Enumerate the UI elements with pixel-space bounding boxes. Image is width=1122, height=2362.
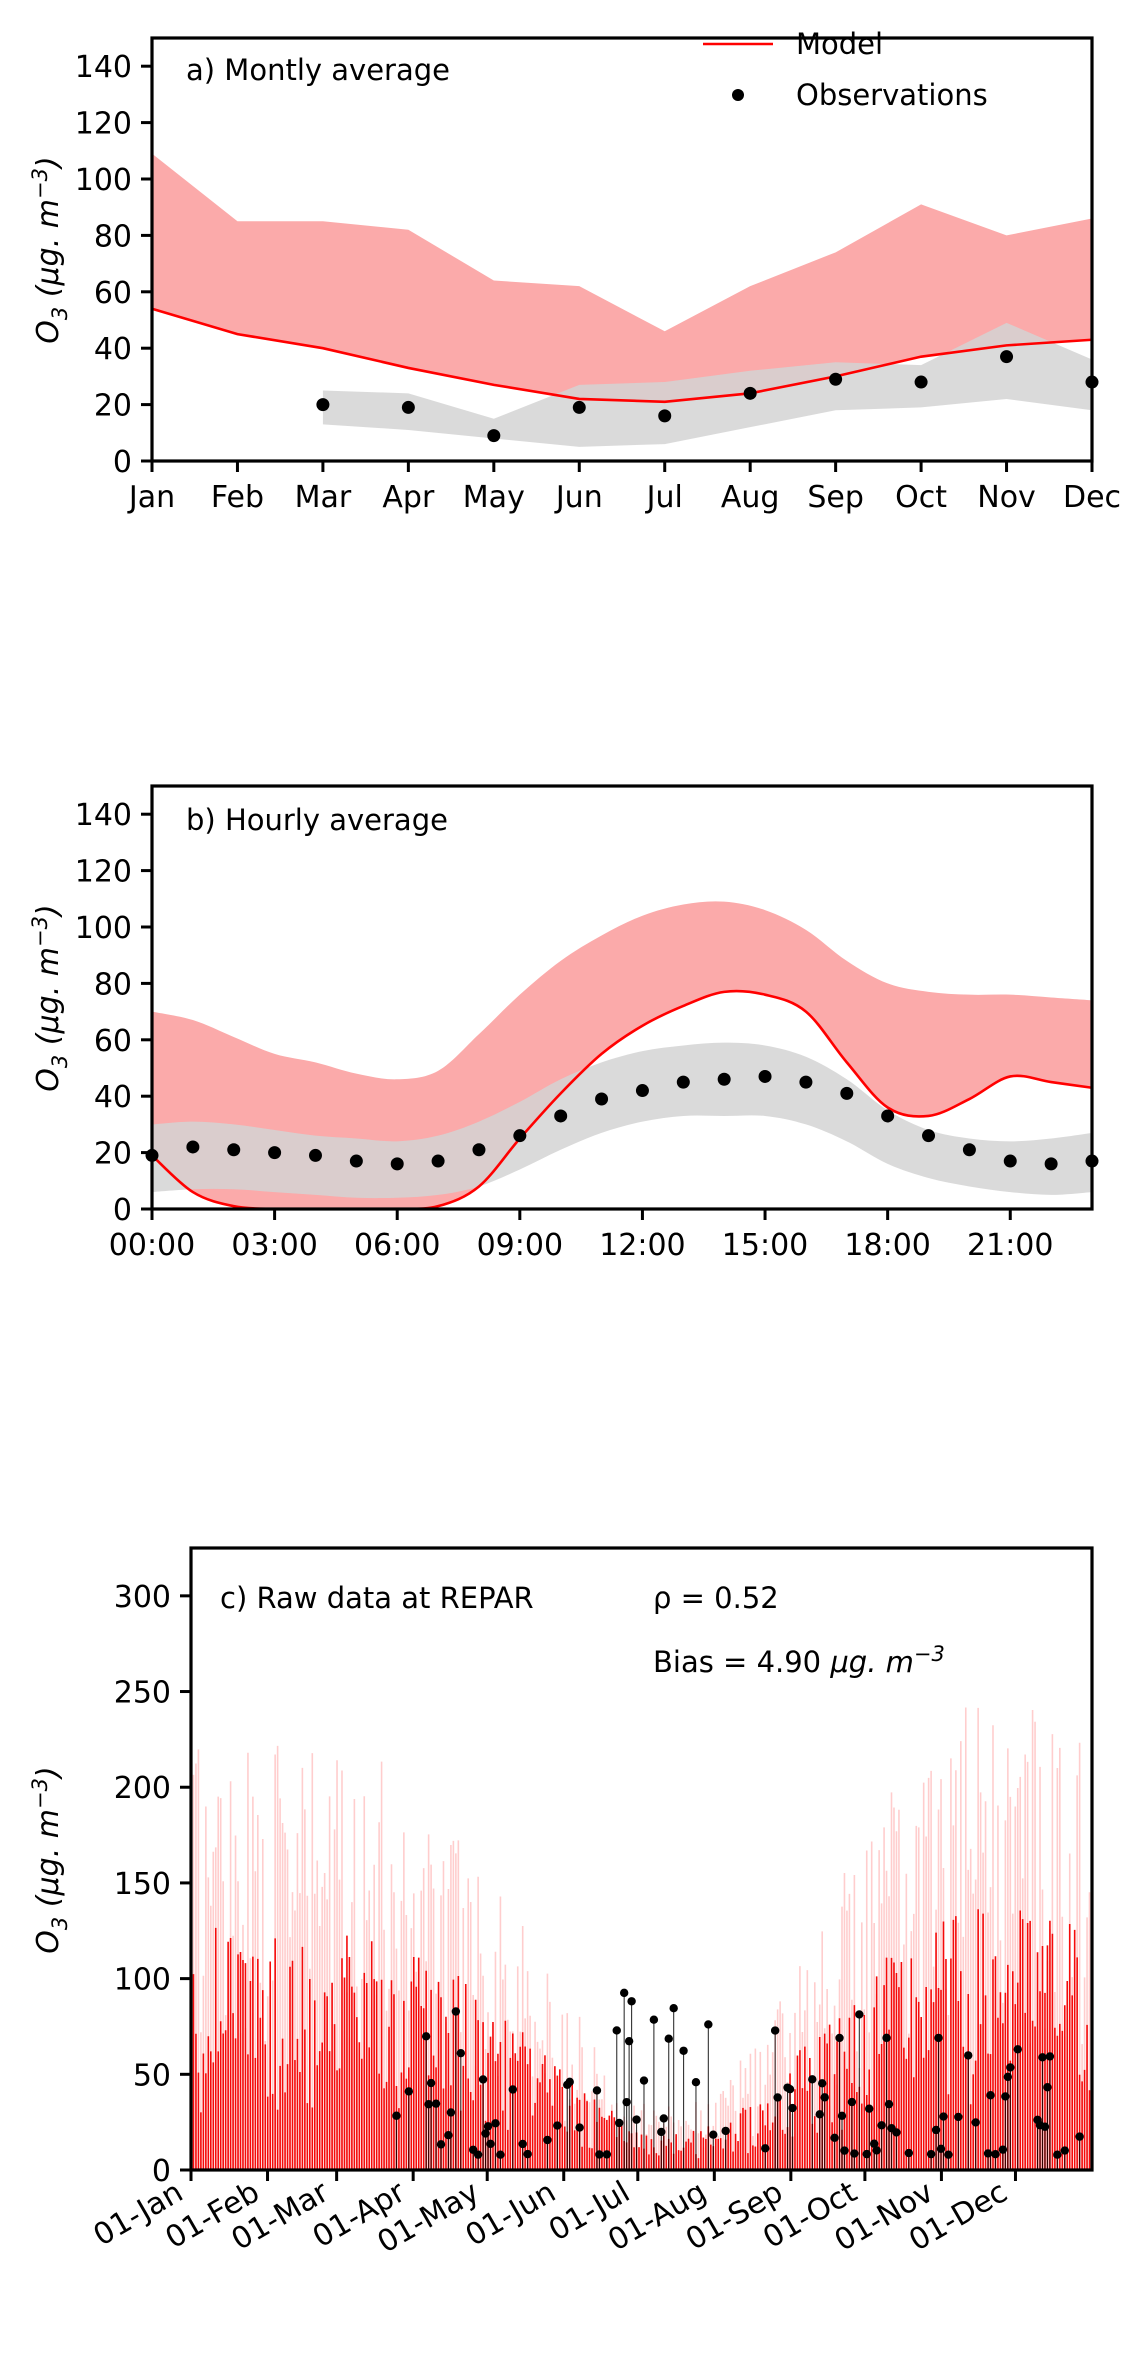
panel-c-observation-point [603, 2150, 611, 2158]
panel-b-observation-point [186, 1140, 199, 1153]
panel-c-observation-point [491, 2119, 499, 2127]
panel-b-y-tick-label: 40 [94, 1080, 132, 1115]
panel-c-observation-point [486, 2140, 494, 2148]
panel-c-title: c) Raw data at REPAR [220, 1581, 534, 1615]
panel-b-x-tick-label: 00:00 [109, 1228, 195, 1263]
panel-c-observation-point [593, 2086, 601, 2094]
legend-label-model: Model [796, 27, 883, 61]
panel-b-observation-point [350, 1155, 363, 1168]
panel-a-y-tick-label: 40 [94, 332, 132, 367]
panel-c-observation-point [575, 2123, 583, 2131]
panel-c-observation-point [835, 2034, 843, 2042]
figure-container: 020406080100120140 JanFebMarAprMayJunJul… [0, 0, 1122, 2362]
panel-b-observation-point [309, 1149, 322, 1162]
panel-c-observation-point [820, 2093, 828, 2101]
panel-c-observation-point [788, 2104, 796, 2112]
panel-c-observation-point [422, 2032, 430, 2040]
panel-c-observation-point [991, 2150, 999, 2158]
panel-c-observation-point [405, 2087, 413, 2095]
legend-observations-marker-swatch [732, 89, 744, 101]
panel-c-observation-point [840, 2146, 848, 2154]
panel-a-x-tick-label: May [463, 480, 525, 515]
panel-a-observation-point [402, 401, 415, 414]
panel-c-y-tick-label: 100 [114, 1963, 171, 1998]
panel-c-observation-point [543, 2136, 551, 2144]
panel-c-observation-point [954, 2113, 962, 2121]
panel-c-observation-point [1046, 2052, 1054, 2060]
panel-a-x-tick-label: Feb [211, 480, 264, 515]
panel-c-y-tick-label: 50 [133, 2058, 171, 2093]
panel-b-observation-point [432, 1155, 445, 1168]
panel-a-observation-point [658, 409, 671, 422]
panel-c-y-tick-label: 250 [114, 1676, 171, 1711]
panel-c-observation-point [944, 2150, 952, 2158]
panel-c-y-tick-label: 300 [114, 1580, 171, 1615]
panel-c-observation-point [721, 2127, 729, 2135]
panel-c-observation-point [971, 2118, 979, 2126]
panel-c-observation-point [679, 2047, 687, 2055]
panel-c-observation-point [934, 2034, 942, 2042]
panel-c-observation-point [761, 2144, 769, 2152]
panel-b-observation-point [922, 1129, 935, 1142]
panel-a-observation-point [829, 373, 842, 386]
panel-c-observation-point [427, 2079, 435, 2087]
panel-c-observation-point [1014, 2045, 1022, 2053]
panel-c-observation-point [986, 2091, 994, 2099]
panel-a-x-tick-label: Sep [807, 480, 864, 515]
panel-c-observation-point [818, 2079, 826, 2087]
panel-a-y-tick-label: 140 [75, 50, 132, 85]
panel-c-observation-point [773, 2093, 781, 2101]
panel-c-observation-point [566, 2078, 574, 2086]
panel-a-y-tick-label: 120 [75, 107, 132, 142]
panel-c-observation-point [518, 2140, 526, 2148]
panel-c-observation-point [627, 1997, 635, 2005]
panel-c-observation-point [669, 2004, 677, 2012]
panel-b-observation-point [513, 1129, 526, 1142]
panel-a-y-tick-label: 0 [113, 445, 132, 480]
panel-c-observation-point [808, 2075, 816, 2083]
panel-b-x-tick-label: 09:00 [477, 1228, 563, 1263]
panel-b-y-tick-label: 60 [94, 1024, 132, 1059]
panel-c-observation-point [509, 2085, 517, 2093]
panel-a-x-tick-label: Dec [1063, 480, 1121, 515]
panel-b-observation-point [554, 1109, 567, 1122]
panel-b-x-tick-label: 03:00 [231, 1228, 317, 1263]
panel-b-observation-point [718, 1073, 731, 1086]
panel-c-observation-point [474, 2150, 482, 2158]
panel-b-x-tick-label: 15:00 [722, 1228, 808, 1263]
panel-c-observation-point [848, 2098, 856, 2106]
panel-c-observation-point [771, 2026, 779, 2034]
panel-c-observation-point [665, 2035, 673, 2043]
panel-a-observation-point [915, 376, 928, 389]
panel-b-x-tick-label: 06:00 [354, 1228, 440, 1263]
panel-b-y-tick-label: 140 [75, 798, 132, 833]
panel-c-observation-point [640, 2076, 648, 2084]
panel-b-observation-point [759, 1070, 772, 1083]
panel-c-observation-point [1061, 2146, 1069, 2154]
panel-b-y-tick-label: 120 [75, 855, 132, 890]
panel-b-observation-point [391, 1157, 404, 1170]
panel-b-observation-point [963, 1143, 976, 1156]
panel-c-observation-point [1038, 2053, 1046, 2061]
panel-c-observation-point [892, 2128, 900, 2136]
panel-b-observation-point [1045, 1157, 1058, 1170]
panel-c-observation-point [964, 2051, 972, 2059]
panel-a-x-tick-label: Nov [977, 480, 1036, 515]
panel-c-observation-point [865, 2105, 873, 2113]
panel-a-observation-point [1000, 350, 1013, 363]
panel-c-observation-point [1053, 2150, 1061, 2158]
panel-b-title: b) Hourly average [186, 803, 448, 837]
panel-c-observation-point [877, 2121, 885, 2129]
panel-b-observation-point [799, 1076, 812, 1089]
panel-c-observation-point [496, 2150, 504, 2158]
panel-c-observation-point [595, 2150, 603, 2158]
panel-c-observation-point [1006, 2063, 1014, 2071]
panel-a-observation-point [744, 387, 757, 400]
panel-a-y-tick-label: 100 [75, 163, 132, 198]
panel-a-observation-point [573, 401, 586, 414]
panel-b-observation-point [881, 1109, 894, 1122]
panel-c-observation-point [830, 2134, 838, 2142]
panel-b-x-tick-label: 12:00 [599, 1228, 685, 1263]
panel-c-observation-point [709, 2131, 717, 2139]
panel-c-observation-point [660, 2114, 668, 2122]
panel-c-observation-point [939, 2112, 947, 2120]
figure-svg: 020406080100120140 JanFebMarAprMayJunJul… [0, 0, 1122, 2362]
panel-a-x-tick-label: Aug [721, 480, 780, 515]
panel-b-observation-point [1004, 1155, 1017, 1168]
panel-a-y-tick-label: 80 [94, 219, 132, 254]
panel-a-observation-point [487, 429, 500, 442]
legend-label-observations: Observations [796, 78, 988, 112]
panel-a-y-tick-label: 20 [94, 389, 132, 424]
panel-c-observation-point [704, 2020, 712, 2028]
panel-b-observation-point [636, 1084, 649, 1097]
panel-c-observation-point [613, 2026, 621, 2034]
panel-a-x-tick-label: Jan [127, 480, 175, 515]
panel-c-observation-point [855, 2010, 863, 2018]
panel-c-observation-point [452, 2007, 460, 2015]
panel-b-y-tick-label: 100 [75, 911, 132, 946]
panel-c-observation-point [479, 2075, 487, 2083]
panel-b-x-tick-label: 21:00 [967, 1228, 1053, 1263]
panel-b-observation-point [595, 1093, 608, 1106]
panel-b-observation-point [840, 1087, 853, 1100]
panel-a-x-tick-label: Jul [645, 480, 683, 515]
panel-c-observation-point [632, 2115, 640, 2123]
panel-a-x-tick-label: Apr [382, 480, 435, 515]
panel-c-bias-annotation: Bias = 4.90 μg. m−3 [653, 1642, 945, 1679]
panel-c-observation-point [615, 2119, 623, 2127]
panel-c-observation-point [786, 2085, 794, 2093]
panel-c-y-tick-label: 150 [114, 1867, 171, 1902]
panel-c-rho-annotation: ρ = 0.52 [653, 1581, 779, 1615]
panel-b-observation-point [227, 1143, 240, 1156]
panel-c-observation-point [692, 2078, 700, 2086]
panel-a-x-tick-label: Mar [295, 480, 352, 515]
panel-c-observation-point [838, 2112, 846, 2120]
panel-b-observation-point [268, 1146, 281, 1159]
panel-b-observation-point [472, 1143, 485, 1156]
panel-a-x-tick-label: Oct [895, 480, 947, 515]
panel-c-observation-point [447, 2108, 455, 2116]
panel-b-y-tick-label: 20 [94, 1137, 132, 1172]
panel-c-observation-point [872, 2146, 880, 2154]
panel-a-observation-point [316, 398, 329, 411]
panel-c-observation-point [927, 2150, 935, 2158]
panel-c-observation-point [850, 2149, 858, 2157]
panel-c-observation-point [650, 2015, 658, 2023]
panel-c-observation-point [437, 2140, 445, 2148]
panel-a-y-tick-label: 60 [94, 276, 132, 311]
panel-c-observation-point [523, 2150, 531, 2158]
panel-c-observation-point [457, 2049, 465, 2057]
panel-c-observation-point [484, 2122, 492, 2130]
panel-b-observation-point [677, 1076, 690, 1089]
panel-c-observation-point [432, 2099, 440, 2107]
panel-c-observation-point [882, 2034, 890, 2042]
panel-b-y-tick-label: 80 [94, 967, 132, 1002]
panel-c-observation-point [905, 2149, 913, 2157]
panel-c-observation-point [392, 2112, 400, 2120]
panel-c-observation-point [1075, 2132, 1083, 2140]
panel-c-y-tick-label: 200 [114, 1771, 171, 1806]
panel-c-observation-point [620, 1989, 628, 1997]
panel-a-x-tick-label: Jun [554, 480, 603, 515]
panel-a-title: a) Montly average [186, 53, 450, 87]
panel-b-y-tick-label: 0 [113, 1193, 132, 1228]
panel-c-observation-point [553, 2121, 561, 2129]
panel-c-observation-point [885, 2100, 893, 2108]
panel-b-x-tick-label: 18:00 [844, 1228, 930, 1263]
